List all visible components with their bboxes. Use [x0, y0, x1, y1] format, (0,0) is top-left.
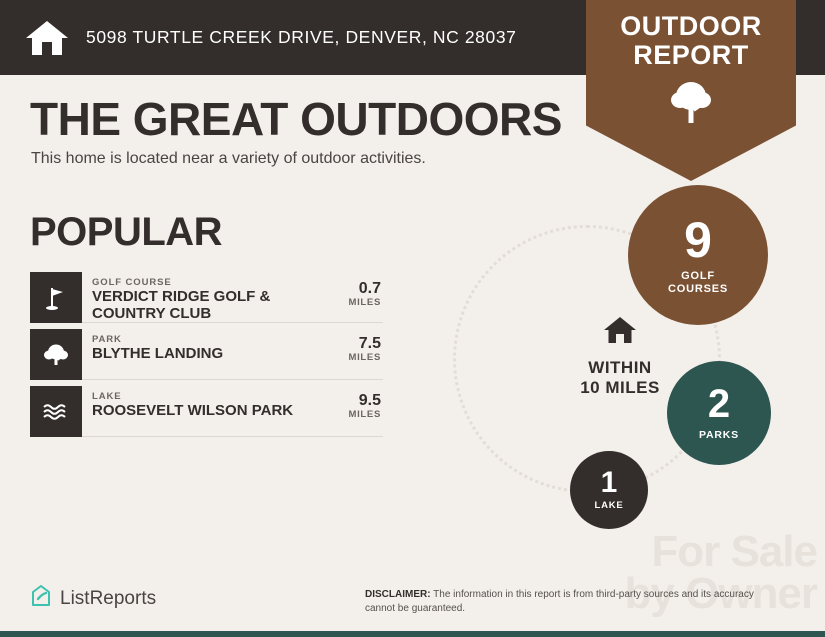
bubble-golf-courses: 9 GOLF COURSES [628, 185, 768, 325]
center-text-line1: WITHIN [540, 358, 700, 378]
list-item: LAKE ROOSEVELT WILSON PARK 9.5 MILES [30, 386, 383, 437]
list-item-distance: 9.5 [331, 393, 381, 409]
outdoor-report-page: 5098 TURTLE CREEK DRIVE, DENVER, NC 2803… [0, 0, 825, 637]
footer-logo[interactable]: ListReports [30, 584, 156, 613]
list-item-distance: 7.5 [331, 336, 381, 352]
list-item-name: ROOSEVELT WILSON PARK [92, 403, 331, 420]
disclaimer-label: DISCLAIMER: [365, 589, 431, 600]
golf-flag-icon [30, 272, 82, 323]
footer-logo-text: ListReports [60, 588, 156, 610]
list-item-category: LAKE [92, 391, 331, 402]
list-item-category: PARK [92, 334, 331, 345]
bottom-accent-strip [0, 631, 825, 637]
page-subtitle: This home is located near a variety of o… [31, 150, 426, 168]
popular-heading: POPULAR [30, 210, 222, 255]
bubble-count: 1 [601, 468, 618, 498]
list-item-category: GOLF COURSE [92, 277, 331, 288]
banner-title-line2: REPORT [586, 41, 796, 70]
amenity-list: GOLF COURSE VERDICT RIDGE GOLF & COUNTRY… [30, 272, 383, 443]
banner-title-line1: OUTDOOR [586, 12, 796, 41]
proximity-diagram: WITHIN 10 MILES 9 GOLF COURSES 2 PARKS 1… [425, 185, 825, 555]
list-item-unit: MILES [331, 352, 381, 363]
disclaimer: DISCLAIMER: The information in this repo… [365, 588, 785, 615]
bubble-count: 2 [708, 384, 730, 424]
list-item-name: VERDICT RIDGE GOLF & COUNTRY CLUB [92, 289, 331, 323]
home-icon [24, 18, 70, 58]
listreports-logo-icon [30, 584, 52, 613]
park-tree-icon [30, 329, 82, 380]
bubble-label-line1: PARKS [699, 429, 739, 441]
bubble-label-line2: COURSES [668, 283, 728, 296]
bubble-label-line1: GOLF [681, 270, 715, 283]
list-item-unit: MILES [331, 409, 381, 420]
bubble-label-line1: LAKE [594, 501, 623, 512]
list-item-distance: 0.7 [331, 281, 381, 297]
outdoor-report-banner: OUTDOOR REPORT [586, 0, 796, 181]
tree-icon [586, 79, 796, 130]
bubble-parks: 2 PARKS [667, 361, 771, 465]
list-item-unit: MILES [331, 297, 381, 308]
list-item-name: BLYTHE LANDING [92, 346, 331, 363]
page-title: THE GREAT OUTDOORS [30, 92, 562, 146]
property-address: 5098 TURTLE CREEK DRIVE, DENVER, NC 2803… [86, 27, 517, 48]
water-waves-icon [30, 386, 82, 437]
list-item: PARK BLYTHE LANDING 7.5 MILES [30, 329, 383, 380]
list-item: GOLF COURSE VERDICT RIDGE GOLF & COUNTRY… [30, 272, 383, 323]
bubble-lakes: 1 LAKE [570, 451, 648, 529]
bubble-count: 9 [684, 215, 712, 265]
